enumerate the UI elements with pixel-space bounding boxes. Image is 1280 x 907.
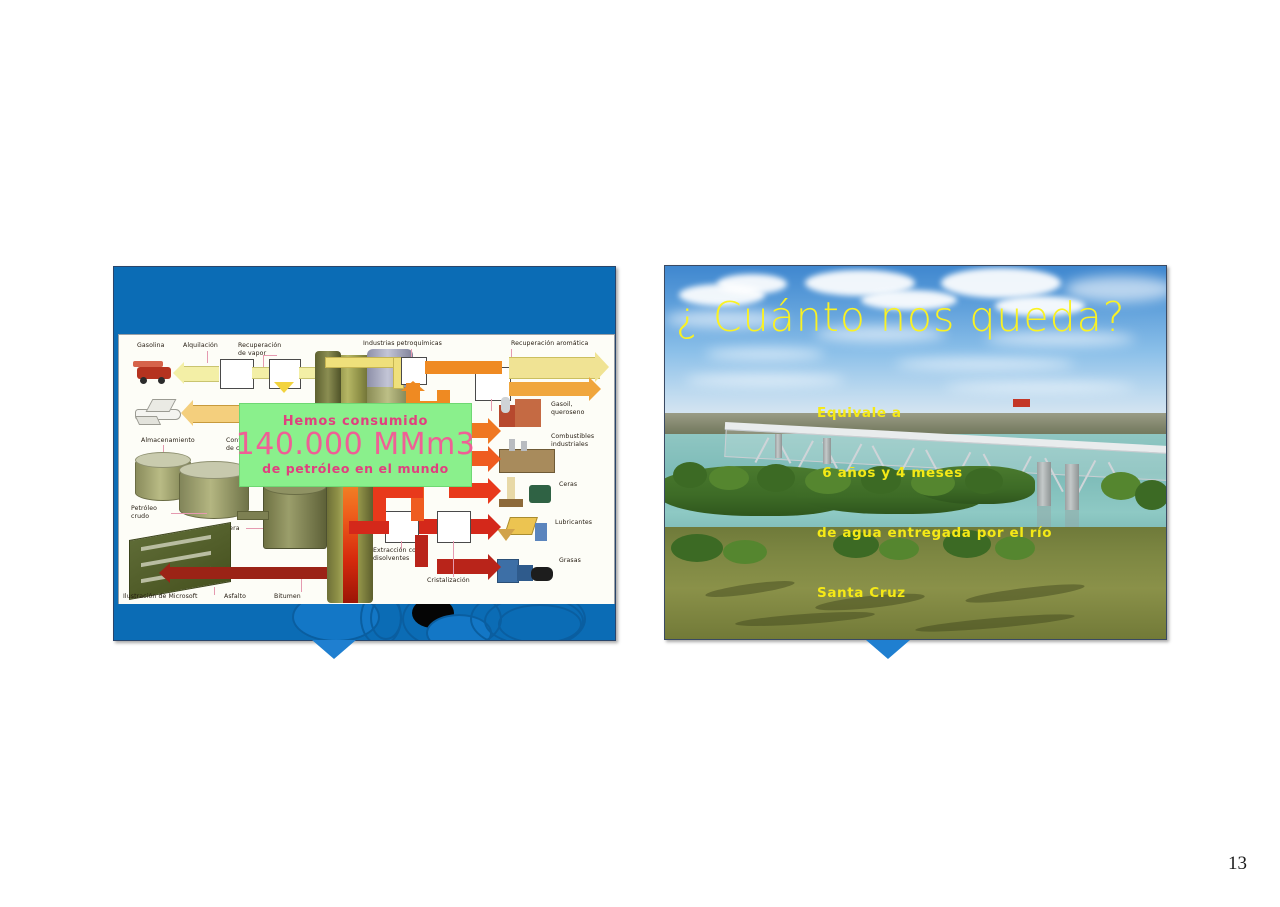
label-bitumen: Bitumen — [274, 593, 301, 601]
slide-canvas: Gasolina Alquilación Recuperación de vap… — [0, 0, 1280, 907]
subtitle-line-2: 6 años y 4 meses — [817, 463, 1052, 483]
blue-down-triangle-right — [866, 640, 910, 659]
label-lubricantes: Lubricantes — [555, 519, 592, 527]
right-figure-river[interactable]: ¿ Cuánto nos queda? Equivale a 6 años y … — [664, 265, 1167, 640]
label-petroleo-crudo: Petróleo crudo — [131, 505, 157, 521]
label-cristalizacion: Cristalización — [427, 577, 470, 585]
label-extraccion-disolventes: Extracción con disolventes — [373, 547, 420, 563]
label-industrias-petroquimicas: Industrias petroquímicas — [363, 340, 442, 348]
page-number: 13 — [1228, 853, 1247, 875]
label-gasoil-queroseno: Gasoil, queroseno — [551, 401, 585, 417]
subtitle-line-3: de agua entregada por el río — [817, 523, 1052, 543]
callout-line-2: 140.000 MMm3 — [236, 429, 476, 461]
label-combustibles-industriales: Combustibles industriales — [551, 433, 594, 449]
bridge-pier — [775, 434, 782, 458]
label-almacenamiento: Almacenamiento — [141, 437, 195, 445]
label-gasolina: Gasolina — [137, 342, 165, 350]
right-figure-subtitle: Equivale a 6 años y 4 meses de agua entr… — [817, 363, 1052, 640]
label-recuperacion-aromatica: Recuperación aromática — [511, 340, 588, 348]
subtitle-line-1: Equivale a — [817, 403, 1052, 423]
label-grasas: Grasas — [559, 557, 581, 565]
label-ilustracion-microsoft: Ilustración de Microsoft — [123, 593, 198, 601]
label-asfalto: Asfalto — [224, 593, 246, 601]
right-figure-title: ¿ Cuánto nos queda? — [676, 297, 1126, 338]
subtitle-line-4: Santa Cruz — [817, 583, 1052, 603]
label-alquilacion: Alquilación — [183, 342, 218, 350]
left-figure-bottom-band — [114, 604, 615, 640]
left-figure-top-band — [114, 267, 615, 333]
green-callout-box[interactable]: Hemos consumido 140.000 MMm3 de petróleo… — [239, 403, 472, 487]
label-ceras: Ceras — [559, 481, 577, 489]
callout-line-3: de petróleo en el mundo — [262, 463, 449, 476]
blue-down-triangle-left — [312, 640, 356, 659]
bridge-pier — [1065, 464, 1079, 510]
